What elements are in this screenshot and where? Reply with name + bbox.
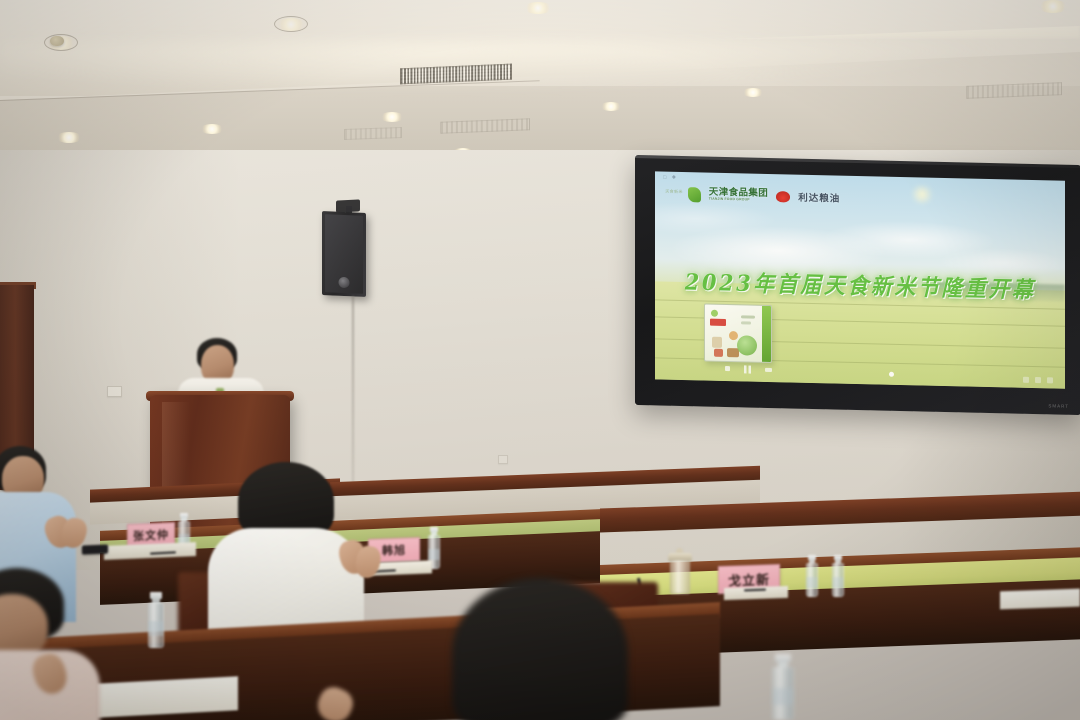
display-brand-mark: SMART (1048, 403, 1069, 408)
tianjin-food-group-logo-icon (688, 187, 701, 202)
cove-light-glow (0, 40, 1080, 130)
wall-mounted-led-display[interactable]: □ ❖ 天食新米 天津食品集团 TIANJIN FOOD GROUP 利达粮油 … (635, 155, 1080, 415)
previous-button[interactable] (725, 366, 730, 371)
display-corner-icons: □ ❖ (663, 175, 678, 181)
ceiling-downlight (200, 124, 224, 134)
product-box-art (729, 331, 738, 340)
ceiling-air-vent (344, 127, 402, 140)
wall-mounted-loudspeaker (322, 211, 366, 297)
wall-switch-plate[interactable] (107, 386, 122, 397)
tea-glass (670, 560, 690, 594)
ceiling-downlight (524, 2, 552, 14)
fullscreen-icon[interactable] (1047, 377, 1053, 383)
ceiling-downlight (1038, 0, 1068, 13)
tianjin-food-group-label: 天津食品集团 TIANJIN FOOD GROUP (709, 188, 768, 203)
downlight-rim (44, 34, 78, 51)
water-bottle (772, 654, 794, 720)
pause-button[interactable] (744, 365, 751, 373)
product-box-seal (737, 335, 757, 355)
product-box-text-line (741, 315, 755, 318)
downlight-rim (274, 16, 308, 32)
paper-sheet (1000, 589, 1080, 610)
lida-grain-oil-label: 利达粮油 (798, 190, 840, 205)
next-button[interactable] (765, 368, 772, 372)
volume-icon[interactable] (1023, 377, 1029, 383)
wall-outlet-plate[interactable] (498, 455, 508, 464)
display-screen[interactable]: □ ❖ 天食新米 天津食品集团 TIANJIN FOOD GROUP 利达粮油 … (655, 171, 1065, 388)
speaker-cable (352, 296, 354, 486)
water-bottle (806, 555, 818, 597)
ceiling-downlight (742, 88, 764, 97)
lida-grain-oil-logo-icon (776, 191, 790, 202)
water-bottle (832, 555, 844, 597)
product-box-art (714, 349, 723, 357)
attendee-front-center-hair (452, 578, 628, 720)
product-box-tag (710, 319, 726, 326)
product-box-mark (711, 310, 718, 317)
player-right-icons[interactable] (1023, 377, 1053, 384)
speaker-driver-icon (339, 277, 350, 288)
display-watermark: 天食新米 (665, 188, 683, 194)
ceiling-downlight (380, 112, 404, 122)
product-box-text-line (741, 321, 751, 324)
product-box-art (712, 337, 722, 348)
settings-icon[interactable] (1035, 377, 1041, 383)
ceiling-downlight (56, 132, 82, 143)
slide-product-box (704, 304, 772, 364)
product-box-spine (762, 306, 771, 362)
water-bottle (148, 592, 164, 648)
conference-room-photo: □ ❖ 天食新米 天津食品集团 TIANJIN FOOD GROUP 利达粮油 … (0, 0, 1080, 720)
ceiling-downlight (600, 102, 622, 111)
progress-handle[interactable] (889, 371, 894, 376)
smartphone (82, 544, 108, 554)
